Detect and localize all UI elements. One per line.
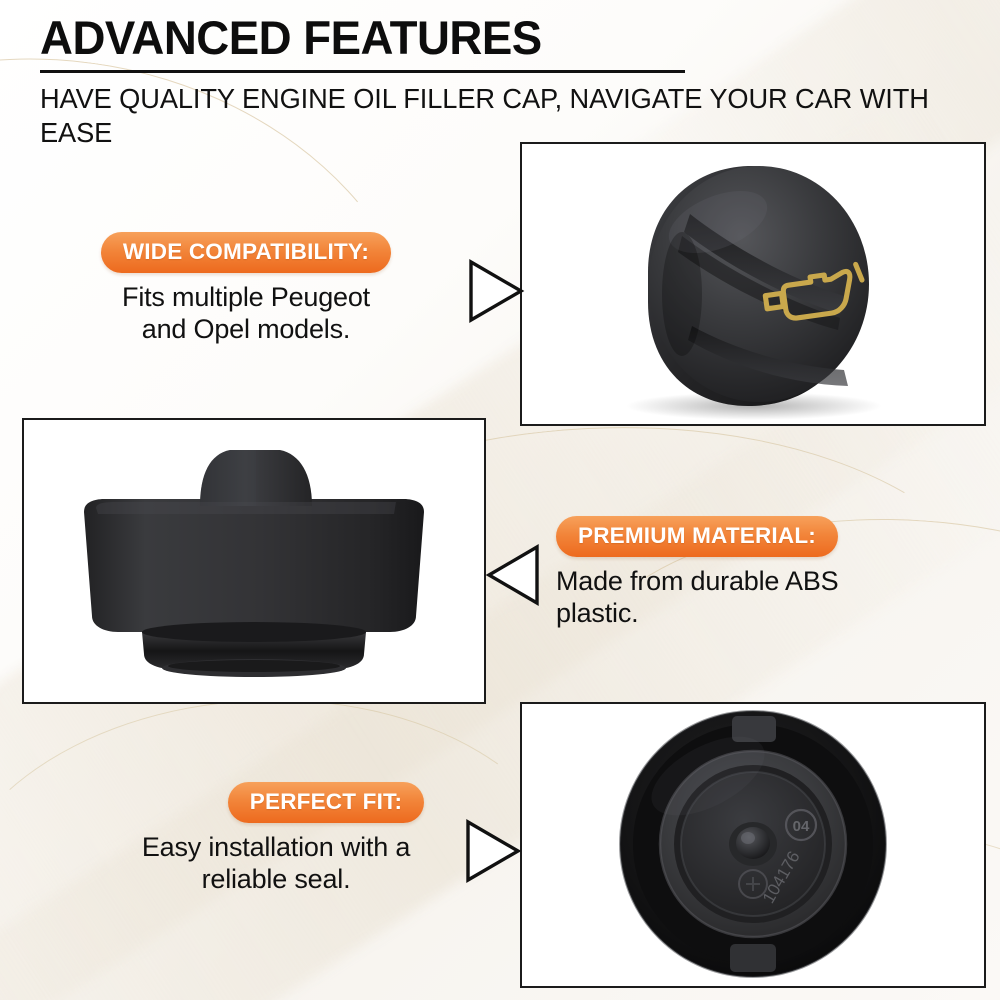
feature-badge-perfect-fit[interactable]: PERFECT FIT: xyxy=(228,782,424,823)
triangle-right-icon xyxy=(465,258,527,329)
product-photo-angled-top xyxy=(520,142,986,426)
feature-description-line: Made from durable ABS xyxy=(556,566,956,598)
feature-description-line: Easy installation with a xyxy=(76,832,476,864)
product-photo-side-profile xyxy=(22,418,486,704)
marking-code: 04 xyxy=(793,818,810,835)
feature-description-line: reliable seal. xyxy=(76,864,476,896)
feature-description-perfect-fit: Easy installation with a reliable seal. xyxy=(76,832,476,895)
feature-wide-compatibility: WIDE COMPATIBILITY: Fits multiple Peugeo… xyxy=(46,232,446,345)
feature-description-line: and Opel models. xyxy=(46,314,446,346)
feature-description-line: plastic. xyxy=(556,598,956,630)
feature-description-premium-material: Made from durable ABS plastic. xyxy=(556,566,956,629)
triangle-left-icon xyxy=(485,543,543,612)
feature-description-line: Fits multiple Peugeot xyxy=(46,282,446,314)
feature-perfect-fit: PERFECT FIT: Easy installation with a re… xyxy=(176,782,476,895)
triangle-right-icon xyxy=(462,818,524,889)
header: ADVANCED FEATURES HAVE QUALITY ENGINE OI… xyxy=(40,14,970,150)
page-title: ADVANCED FEATURES xyxy=(40,14,942,61)
title-underline xyxy=(40,70,685,73)
feature-premium-material: PREMIUM MATERIAL: Made from durable ABS … xyxy=(556,516,956,629)
infographic-page: ADVANCED FEATURES HAVE QUALITY ENGINE OI… xyxy=(0,0,1000,1000)
product-photo-underside: 04 104176 xyxy=(520,702,986,988)
page-subtitle: HAVE QUALITY ENGINE OIL FILLER CAP, NAVI… xyxy=(40,82,946,150)
feature-badge-wide-compatibility[interactable]: WIDE COMPATIBILITY: xyxy=(101,232,391,273)
feature-badge-premium-material[interactable]: PREMIUM MATERIAL: xyxy=(556,516,838,557)
feature-description-wide-compatibility: Fits multiple Peugeot and Opel models. xyxy=(46,282,446,345)
